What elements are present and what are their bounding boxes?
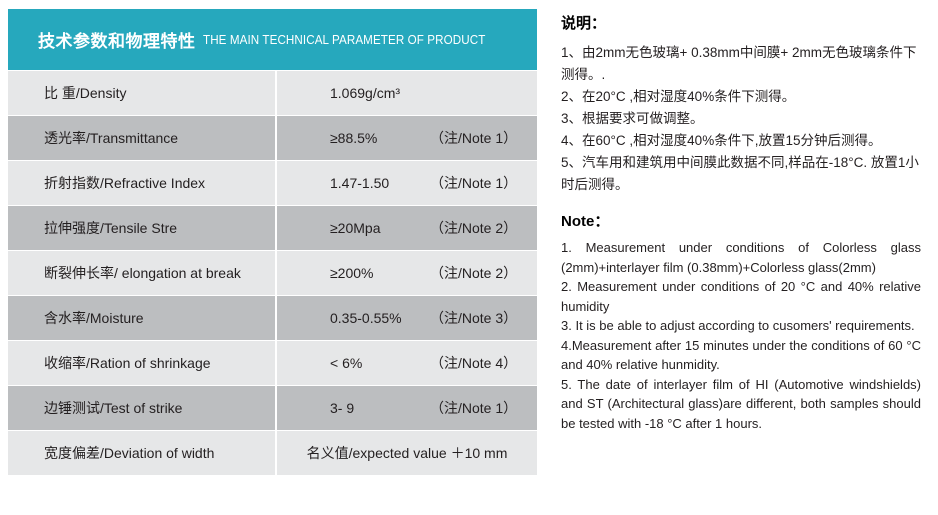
row-note-reference: （注/Note 4） [430,353,517,373]
english-note-item: 2. Measurement under conditions of 20 °C… [561,277,921,316]
table-row: 收缩率/Ration of shrinkage< 6%（注/Note 4） [8,341,537,385]
row-value-text: ≥20Mpa [330,220,430,236]
chinese-notes-list: 1、由2mm无色玻璃+ 0.38mm中间膜+ 2mm无色玻璃条件下测得。.2、在… [561,42,921,196]
row-value-cell: 名义值/expected value ＋10 mm [277,431,537,475]
chinese-note-item: 3、根据要求可做调整。 [561,108,921,130]
notes-panel: 说明： 1、由2mm无色玻璃+ 0.38mm中间膜+ 2mm无色玻璃条件下测得。… [561,12,921,433]
table-title-english: THE MAIN TECHNICAL PARAMETER OF PRODUCT [203,33,485,47]
row-label-cell: 拉伸强度/Tensile Stre [8,206,275,250]
row-value-text: ≥200% [330,265,430,281]
table-row: 边锤测试/Test of strike3- 9（注/Note 1） [8,386,537,430]
table-row: 透光率/Transmittance≥88.5%（注/Note 1） [8,116,537,160]
row-note-reference: （注/Note 2） [430,263,517,283]
table-row: 拉伸强度/Tensile Stre≥20Mpa（注/Note 2） [8,206,537,250]
row-value-cell: < 6%（注/Note 4） [277,341,537,385]
table-row: 折射指数/Refractive Index1.47-1.50（注/Note 1） [8,161,537,205]
notes-heading-chinese: 说明： [561,12,921,33]
row-value-text: 3- 9 [330,400,430,416]
english-note-item: 5. The date of interlayer film of HI (Au… [561,375,921,434]
english-notes-list: 1. Measurement under conditions of Color… [561,238,921,433]
technical-parameter-table: 技术参数和物理特性 THE MAIN TECHNICAL PARAMETER O… [8,9,537,475]
table-row: 宽度偏差/Deviation of width名义值/expected valu… [8,431,537,475]
row-note-reference: （注/Note 1） [430,128,517,148]
row-label-cell: 透光率/Transmittance [8,116,275,160]
row-note-reference: （注/Note 3） [430,308,517,328]
row-label-cell: 含水率/Moisture [8,296,275,340]
table-body: 比 重/Density1.069g/cm³透光率/Transmittance≥8… [8,71,537,475]
row-value-text: 名义值/expected value ＋10 mm [307,443,508,463]
table-row: 含水率/Moisture0.35-0.55%（注/Note 3） [8,296,537,340]
chinese-note-item: 1、由2mm无色玻璃+ 0.38mm中间膜+ 2mm无色玻璃条件下测得。. [561,42,921,86]
table-row: 断裂伸长率/ elongation at break≥200%（注/Note 2… [8,251,537,295]
row-label-cell: 折射指数/Refractive Index [8,161,275,205]
table-title-chinese: 技术参数和物理特性 [38,27,196,52]
chinese-note-item: 5、汽车用和建筑用中间膜此数据不同,样品在-18°C. 放置1小时后测得。 [561,152,921,196]
row-value-text: ≥88.5% [330,130,430,146]
row-label-cell: 宽度偏差/Deviation of width [8,431,275,475]
row-value-cell: 1.47-1.50（注/Note 1） [277,161,537,205]
chinese-note-item: 2、在20°C ,相对湿度40%条件下测得。 [561,86,921,108]
row-label-cell: 断裂伸长率/ elongation at break [8,251,275,295]
english-note-item: 4.Measurement after 15 minutes under the… [561,336,921,375]
notes-heading-english: Note： [561,210,921,231]
table-header-banner: 技术参数和物理特性 THE MAIN TECHNICAL PARAMETER O… [8,9,537,70]
table-row: 比 重/Density1.069g/cm³ [8,71,537,115]
row-value-cell: ≥88.5%（注/Note 1） [277,116,537,160]
row-value-cell: ≥200%（注/Note 2） [277,251,537,295]
row-label-cell: 比 重/Density [8,71,275,115]
chinese-note-item: 4、在60°C ,相对湿度40%条件下,放置15分钟后测得。 [561,130,921,152]
row-note-reference: （注/Note 1） [430,398,517,418]
row-note-reference: （注/Note 1） [430,173,517,193]
row-value-cell: 1.069g/cm³ [277,71,537,115]
row-value-text: 1.47-1.50 [330,175,430,191]
row-value-cell: ≥20Mpa（注/Note 2） [277,206,537,250]
english-note-item: 1. Measurement under conditions of Color… [561,238,921,277]
row-note-reference: （注/Note 2） [430,218,517,238]
row-label-cell: 边锤测试/Test of strike [8,386,275,430]
row-label-cell: 收缩率/Ration of shrinkage [8,341,275,385]
row-value-cell: 0.35-0.55%（注/Note 3） [277,296,537,340]
english-note-item: 3. It is be able to adjust according to … [561,316,921,336]
row-value-cell: 3- 9（注/Note 1） [277,386,537,430]
row-value-text: 1.069g/cm³ [330,85,430,101]
row-value-text: 0.35-0.55% [330,310,430,326]
row-value-text: < 6% [330,355,430,371]
